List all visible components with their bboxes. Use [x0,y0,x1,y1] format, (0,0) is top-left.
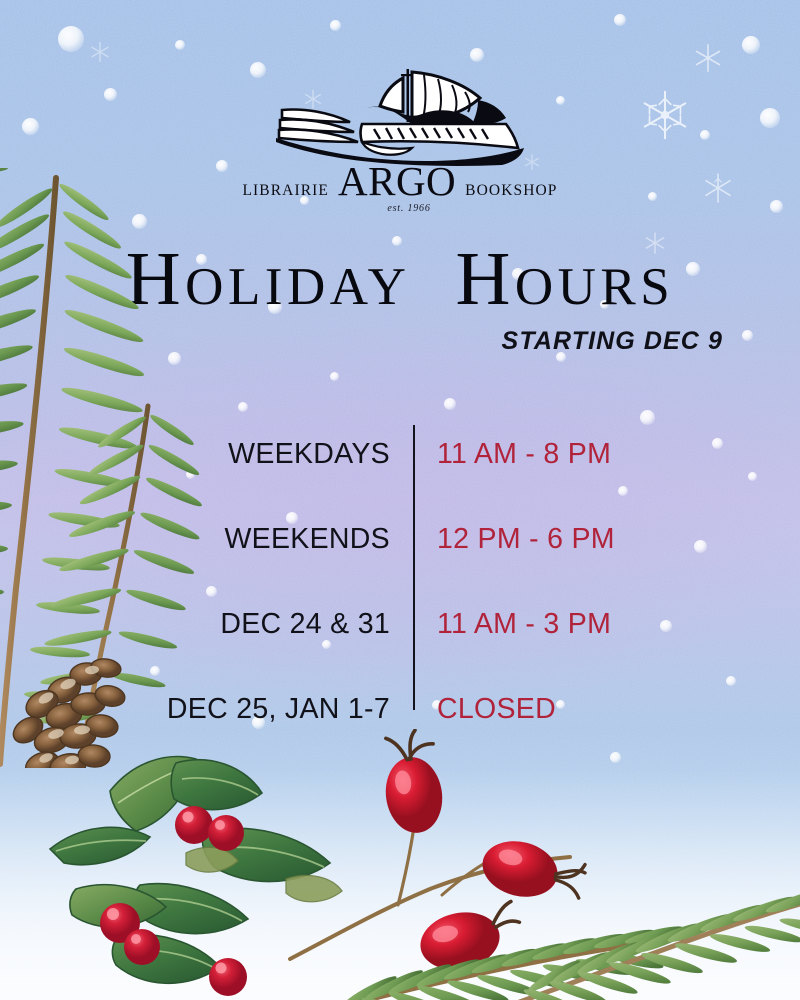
hours-label: DEC 25, JAN 1-7 [0,693,413,726]
headline-line-2: Hours [455,237,674,321]
page-title: Holiday Hours [0,243,800,316]
hours-label: DEC 24 & 31 [0,608,413,641]
holiday-hours-poster: LIBRAIRIE ARGO BOOKSHOP est. 1966 Holida… [0,0,800,1000]
background-snowfield [0,770,800,1000]
hours-value: 12 PM - 6 PM [413,523,800,556]
headline-line-1: Holiday [126,237,411,321]
hours-table: WEEKDAYS 11 AM - 8 PM WEEKENDS 12 PM - 6… [0,412,800,752]
hours-value: 11 AM - 8 PM [413,438,800,471]
logo-wordmark: LIBRAIRIE ARGO BOOKSHOP [242,161,557,202]
logo-main-word: ARGO [338,161,456,202]
hours-column-divider [413,425,415,710]
table-row: WEEKDAYS 11 AM - 8 PM [0,412,800,497]
table-row: DEC 25, JAN 1-7 CLOSED [0,667,800,752]
table-row: WEEKENDS 12 PM - 6 PM [0,497,800,582]
table-row: DEC 24 & 31 11 AM - 3 PM [0,582,800,667]
logo-left-word: LIBRAIRIE [242,182,329,200]
hours-value: 11 AM - 3 PM [413,608,800,641]
headline-subtitle: STARTING DEC 9 [502,327,723,356]
hours-value: CLOSED [413,693,800,726]
logo-established-text: est. 1966 [387,203,430,214]
logo-right-word: BOOKSHOP [465,182,557,200]
hours-label: WEEKENDS [0,523,413,556]
ship-on-book-icon [266,62,534,167]
argo-bookshop-logo: LIBRAIRIE ARGO BOOKSHOP est. 1966 [0,62,800,214]
hours-label: WEEKDAYS [0,438,413,471]
